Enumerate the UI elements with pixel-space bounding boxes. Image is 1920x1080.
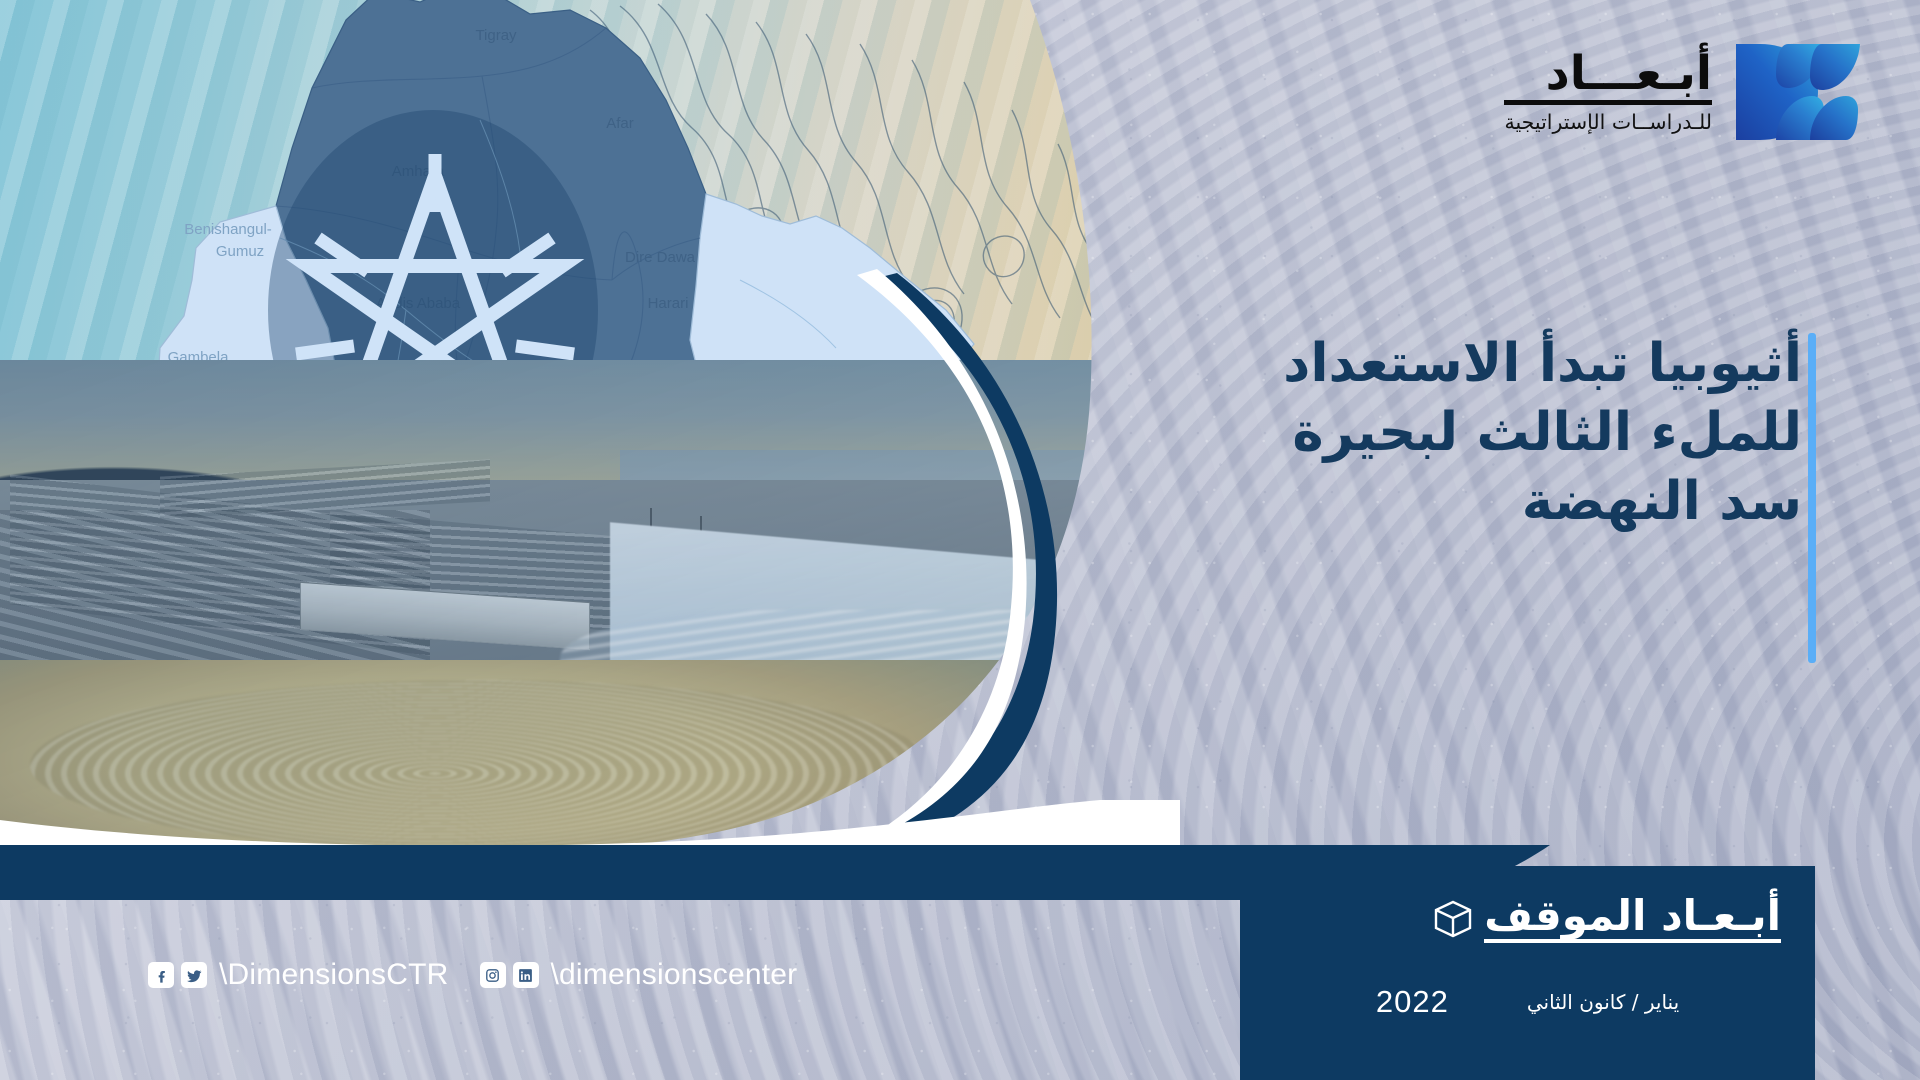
page-title: أثيوبيا تبدأ الاستعداد للملء الثالث لبحي…: [1162, 330, 1802, 537]
map-label-benishangul: Benishangul-: [184, 221, 272, 238]
issue-panel-meta: يناير / كانون الثاني 2022: [1240, 984, 1815, 1020]
issue-month: يناير / كانون الثاني: [1527, 990, 1679, 1014]
brand-name: أبـعـــاد: [1504, 50, 1712, 105]
social-handle-secondary[interactable]: \dimensionscenter: [551, 958, 798, 992]
facebook-icon[interactable]: [148, 962, 174, 988]
social-group-secondary: \dimensionscenter: [480, 958, 820, 992]
map-label-tigray: Tigray: [475, 27, 517, 44]
issue-panel-logo: أبـعـاد الموقف: [1430, 894, 1781, 943]
headline-line-1: أثيوبيا تبدأ الاستعداد: [1162, 330, 1802, 399]
isometric-cube-icon: [1430, 896, 1476, 942]
map-label-dire-dawa: Dire Dawa: [625, 249, 696, 266]
headline-line-3: سد النهضة: [1162, 468, 1802, 537]
twitter-icon[interactable]: [181, 962, 207, 988]
dss-monogram-icon: [1730, 38, 1864, 146]
issue-panel: أبـعـاد الموقف يناير / كانون الثاني 2022: [1240, 866, 1815, 1080]
brand-tagline: للـدراســات الإستراتيجية: [1504, 110, 1712, 134]
navy-divider-bar: [0, 845, 1420, 900]
brand-logo-text: أبـعـــاد للـدراســات الإستراتيجية: [1504, 50, 1712, 134]
social-links-row: \DimensionsCTR \dimensionscenter: [148, 958, 819, 992]
linkedin-icon[interactable]: [513, 962, 539, 988]
issue-panel-title: أبـعـاد الموقف: [1484, 894, 1781, 943]
instagram-icon[interactable]: [480, 962, 506, 988]
map-label-gumuz: Gumuz: [216, 243, 264, 260]
issue-year: 2022: [1376, 984, 1449, 1020]
headline-line-2: للملء الثالث لبحيرة: [1162, 399, 1802, 468]
social-handle-primary[interactable]: \DimensionsCTR: [219, 958, 449, 992]
headline-accent-bar: [1808, 333, 1816, 663]
map-label-harari: Harari: [648, 295, 689, 312]
brand-logo[interactable]: أبـعـــاد للـدراســات الإستراتيجية: [1504, 38, 1864, 146]
social-group-primary: \DimensionsCTR: [148, 958, 471, 992]
poster-canvas: Tigray Afar Amhara Benishangul- Gumuz Di…: [0, 0, 1920, 1080]
map-label-afar: Afar: [606, 115, 634, 132]
